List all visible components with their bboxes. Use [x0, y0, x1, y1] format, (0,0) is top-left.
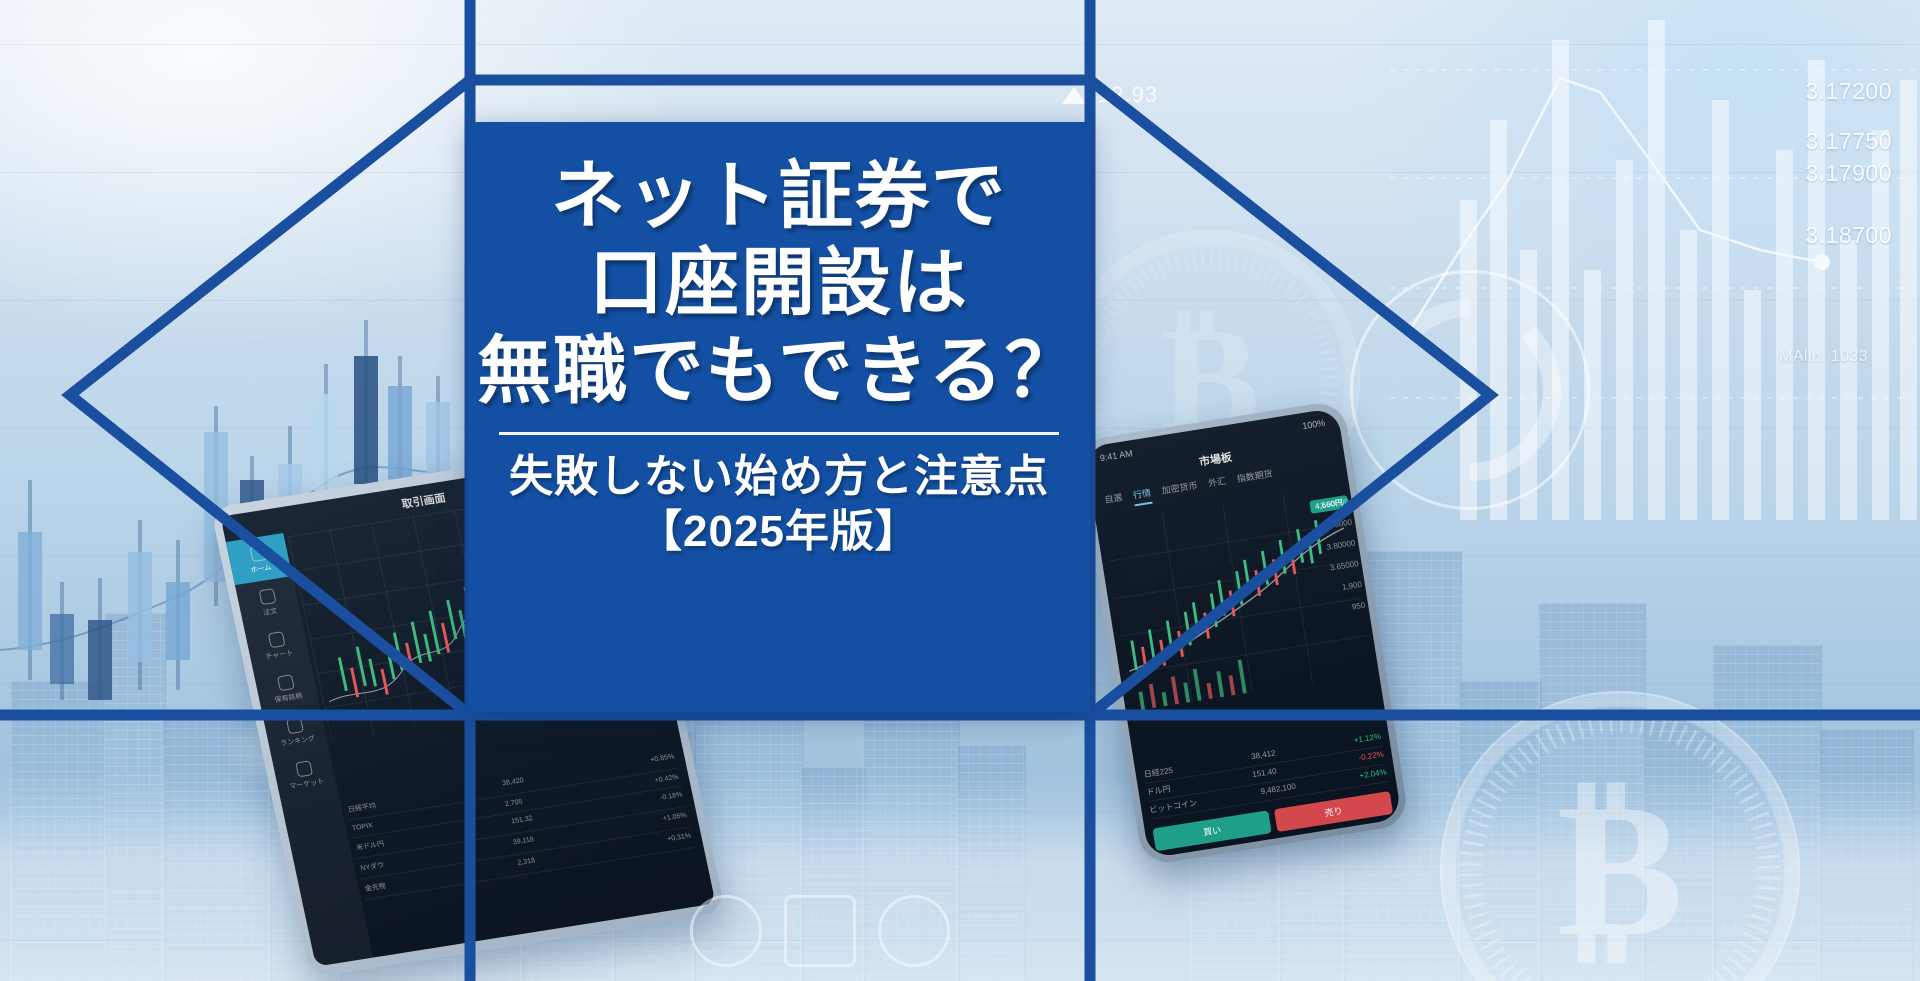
title-panel: ネット証券で 口座開設は 無職でもできる？ 失敗しない始め方と注意点 【2025…	[468, 122, 1090, 712]
headline-line-1: ネット証券で	[477, 152, 1081, 239]
decorative-icon-row	[690, 895, 950, 967]
eyecatch-canvas: 3.17200 3.17750 3.17900 3.18700 MAlin. 1…	[0, 0, 1920, 981]
subline-line-1: 失敗しない始め方と注意点	[509, 449, 1049, 504]
subline-line-2: 【2025年版】	[509, 504, 1049, 559]
circle-icon	[878, 895, 950, 967]
square-icon	[784, 895, 856, 967]
headline-line-2: 口座開設は	[477, 239, 1081, 326]
headline-line-3: 無職でもできる？	[477, 327, 1081, 414]
page-subtitle: 失敗しない始め方と注意点 【2025年版】	[509, 449, 1049, 559]
title-divider	[499, 432, 1059, 435]
page-title: ネット証券で 口座開設は 無職でもできる？	[477, 152, 1081, 414]
camera-icon	[690, 895, 762, 967]
